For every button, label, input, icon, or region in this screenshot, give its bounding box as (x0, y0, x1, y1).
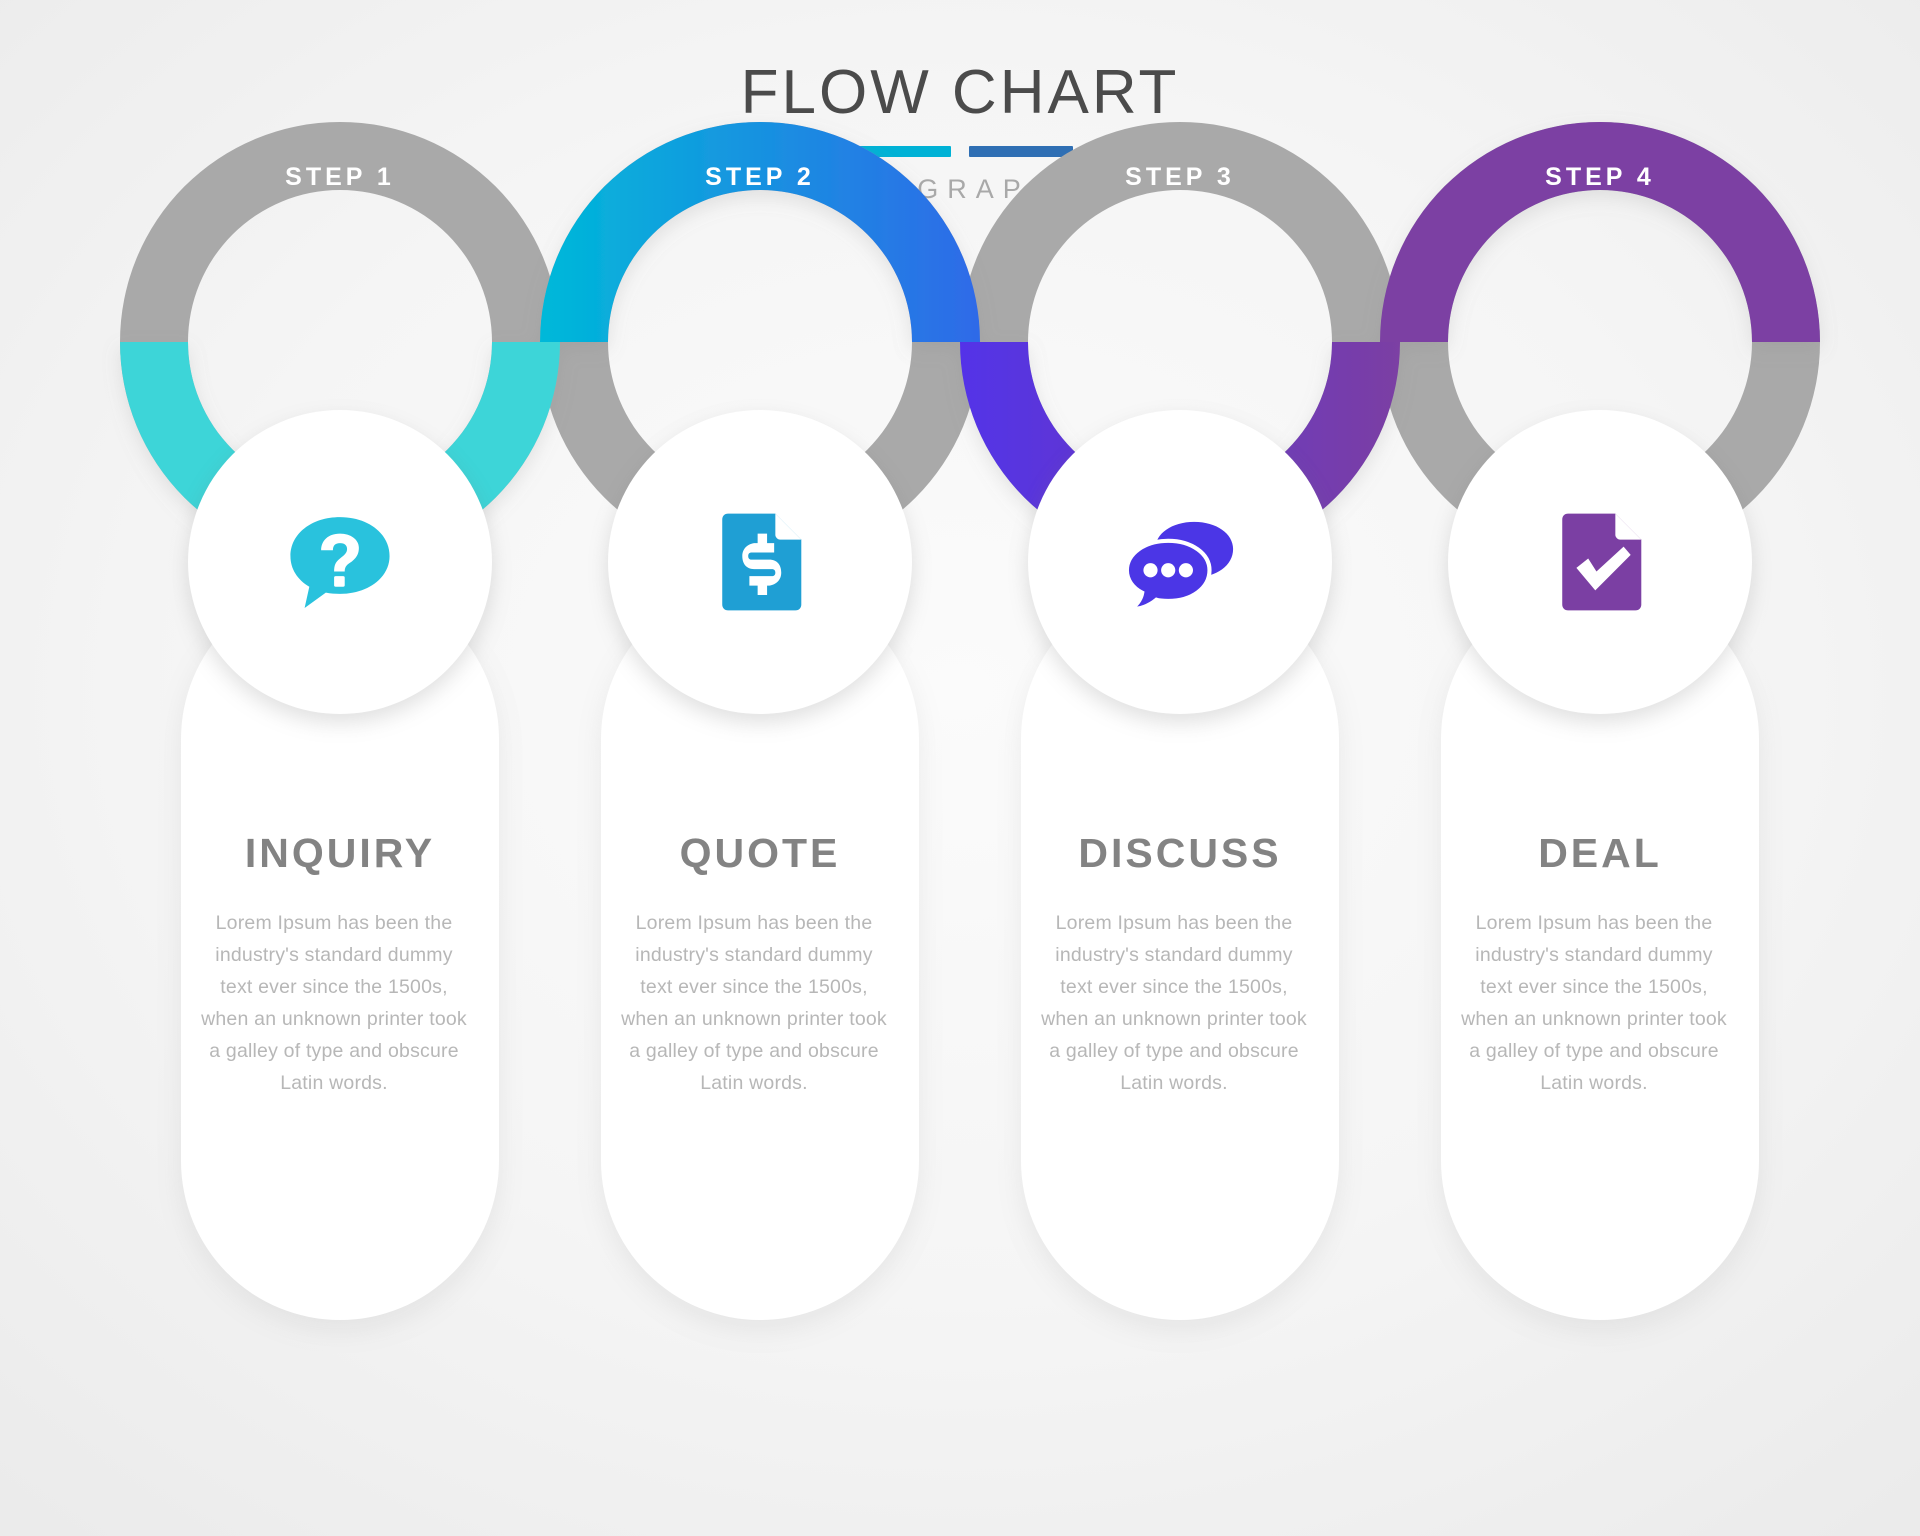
step-3-icon-disc (1028, 410, 1332, 714)
accent-bar-4 (1091, 146, 1195, 157)
step-1-title: INQUIRY (175, 830, 505, 877)
check-document-icon (1541, 503, 1659, 621)
step-card-1[interactable]: INQUIRY Lorem Ipsum has been the industr… (175, 404, 505, 1364)
steps-container: INQUIRY Lorem Ipsum has been the industr… (0, 404, 1920, 1364)
step-4-icon-disc (1448, 410, 1752, 714)
header: FLOW CHART INFOGRAPHIC (0, 62, 1920, 205)
dollar-document-icon (701, 503, 819, 621)
step-card-2[interactable]: QUOTE Lorem Ipsum has been the industry'… (595, 404, 925, 1364)
infographic-canvas: FLOW CHART INFOGRAPHIC (0, 0, 1920, 1536)
step-3-body: Lorem Ipsum has been the industry's stan… (1041, 907, 1307, 1099)
page-title: FLOW CHART (0, 62, 1920, 124)
accent-bar-3 (969, 146, 1073, 157)
step-2-body: Lorem Ipsum has been the industry's stan… (621, 907, 887, 1099)
step-4-title: DEAL (1435, 830, 1765, 877)
step-card-4[interactable]: DEAL Lorem Ipsum has been the industry's… (1435, 404, 1765, 1364)
accent-bar-1 (725, 146, 829, 157)
step-2-icon-disc (608, 410, 912, 714)
accent-bar-group (725, 146, 1195, 157)
step-1-body: Lorem Ipsum has been the industry's stan… (201, 907, 467, 1099)
page-subtitle: INFOGRAPHIC (0, 174, 1920, 205)
step-1-icon-disc (188, 410, 492, 714)
step-card-3[interactable]: DISCUSS Lorem Ipsum has been the industr… (1015, 404, 1345, 1364)
step-2-title: QUOTE (595, 830, 925, 877)
chat-bubbles-icon (1121, 503, 1239, 621)
step-4-body: Lorem Ipsum has been the industry's stan… (1461, 907, 1727, 1099)
accent-bar-2 (847, 146, 951, 157)
question-speech-bubble-icon (281, 503, 399, 621)
step-3-title: DISCUSS (1015, 830, 1345, 877)
